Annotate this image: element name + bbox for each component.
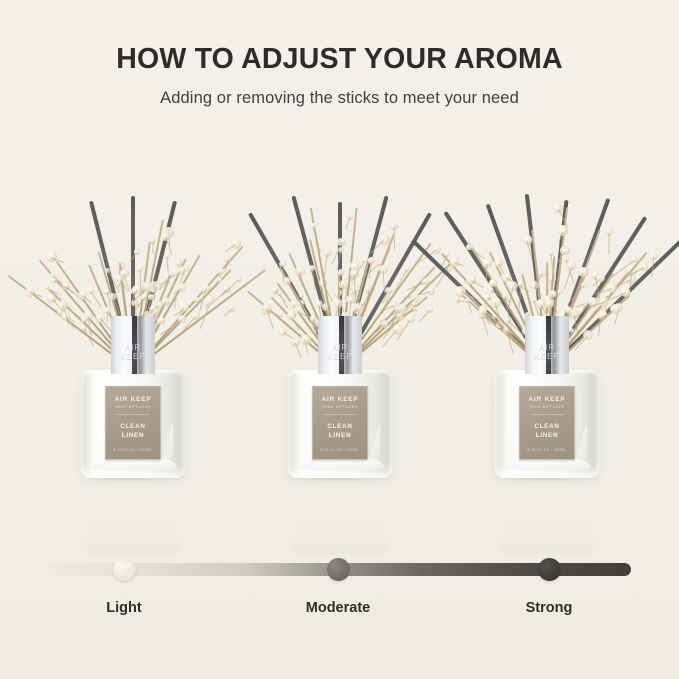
heading-block: HOW TO ADJUST YOUR AROMA Adding or remov… (0, 44, 679, 108)
bottle-body: AIR KEEP REED DIFFUSER CLEAN LINEN 6.76 … (495, 370, 599, 478)
label-brand: AIR KEEP (106, 396, 160, 403)
label-size: 6.76 FL.OZ / 200ML (106, 448, 160, 452)
label-divider (116, 414, 150, 415)
flower-twig (152, 241, 153, 253)
flower-twig (323, 253, 327, 279)
label-scent-line-2: LINEN (106, 431, 160, 440)
flower-twig (418, 310, 429, 323)
diffuser-bottle-moderate: AIR KEEP AIR KEEP REED DIFFUSER CLEAN LI… (288, 316, 392, 478)
flower-twig (282, 265, 283, 283)
flower-twig (345, 217, 350, 229)
flower-twig (311, 269, 315, 290)
label-size: 6.76 FL.OZ / 200ML (313, 448, 367, 452)
label-scent-line-2: LINEN (520, 431, 574, 440)
flower-twig (370, 240, 385, 255)
bottle-body: AIR KEEP REED DIFFUSER CLEAN LINEN 6.76 … (288, 370, 392, 478)
collar-emboss-text: AIR KEEP (525, 343, 569, 361)
flower-twig (287, 282, 298, 297)
bottle-collar: AIR KEEP (111, 316, 155, 374)
label-scent-line-1: CLEAN (520, 422, 574, 431)
label-scent-line-1: CLEAN (106, 422, 160, 431)
diffuser-bottle-strong: AIR KEEP AIR KEEP REED DIFFUSER CLEAN LI… (495, 316, 599, 478)
label-scent-line-1: CLEAN (313, 422, 367, 431)
product-moderate: AIR KEEP AIR KEEP REED DIFFUSER CLEAN LI… (235, 110, 445, 520)
label-tagline: REED DIFFUSER (106, 405, 160, 409)
diffuser-bottle-light: AIR KEEP AIR KEEP REED DIFFUSER CLEAN LI… (81, 316, 185, 478)
intensity-slider[interactable]: Light Moderate Strong (0, 548, 679, 628)
poster-canvas: HOW TO ADJUST YOUR AROMA Adding or remov… (0, 0, 679, 679)
product-strong: AIR KEEP AIR KEEP REED DIFFUSER CLEAN LI… (442, 110, 652, 520)
label-divider (530, 414, 564, 415)
label-size: 6.76 FL.OZ / 200ML (520, 448, 574, 452)
slider-label-light: Light (106, 600, 141, 616)
slider-label-strong: Strong (526, 600, 573, 616)
label-tagline: REED DIFFUSER (520, 405, 574, 409)
slider-labels: Light Moderate Strong (0, 600, 679, 624)
slider-label-moderate: Moderate (306, 600, 370, 616)
product-light: AIR KEEP AIR KEEP REED DIFFUSER CLEAN LI… (28, 110, 238, 520)
flower-twig (485, 264, 487, 280)
bottle-collar: AIR KEEP (525, 316, 569, 374)
flower-twig (518, 285, 521, 309)
label-tagline: REED DIFFUSER (313, 405, 367, 409)
bottle-label: AIR KEEP REED DIFFUSER CLEAN LINEN 6.76 … (519, 386, 575, 460)
product-row: AIR KEEP AIR KEEP REED DIFFUSER CLEAN LI… (0, 110, 679, 520)
flower-twig (342, 285, 344, 296)
flower-twig (393, 227, 395, 250)
slider-knob-moderate[interactable] (327, 558, 350, 581)
page-subtitle: Adding or removing the sticks to meet yo… (0, 89, 679, 108)
label-divider (323, 414, 357, 415)
bottle-label: AIR KEEP REED DIFFUSER CLEAN LINEN 6.76 … (312, 386, 368, 460)
flower-twig (394, 269, 407, 291)
bottle-reflection (87, 518, 179, 554)
collar-emboss-text: AIR KEEP (111, 343, 155, 361)
slider-knob-strong[interactable] (538, 558, 561, 581)
label-brand: AIR KEEP (520, 396, 574, 403)
bottle-reflection (294, 518, 386, 554)
bottle-collar: AIR KEEP (318, 316, 362, 374)
label-brand: AIR KEEP (313, 396, 367, 403)
slider-knob-light[interactable] (113, 558, 136, 581)
bottle-label: AIR KEEP REED DIFFUSER CLEAN LINEN 6.76 … (105, 386, 161, 460)
bottle-body: AIR KEEP REED DIFFUSER CLEAN LINEN 6.76 … (81, 370, 185, 478)
bottle-reflection (501, 518, 593, 554)
page-title: HOW TO ADJUST YOUR AROMA (0, 44, 679, 75)
label-scent-line-2: LINEN (313, 431, 367, 440)
collar-emboss-text: AIR KEEP (318, 343, 362, 361)
